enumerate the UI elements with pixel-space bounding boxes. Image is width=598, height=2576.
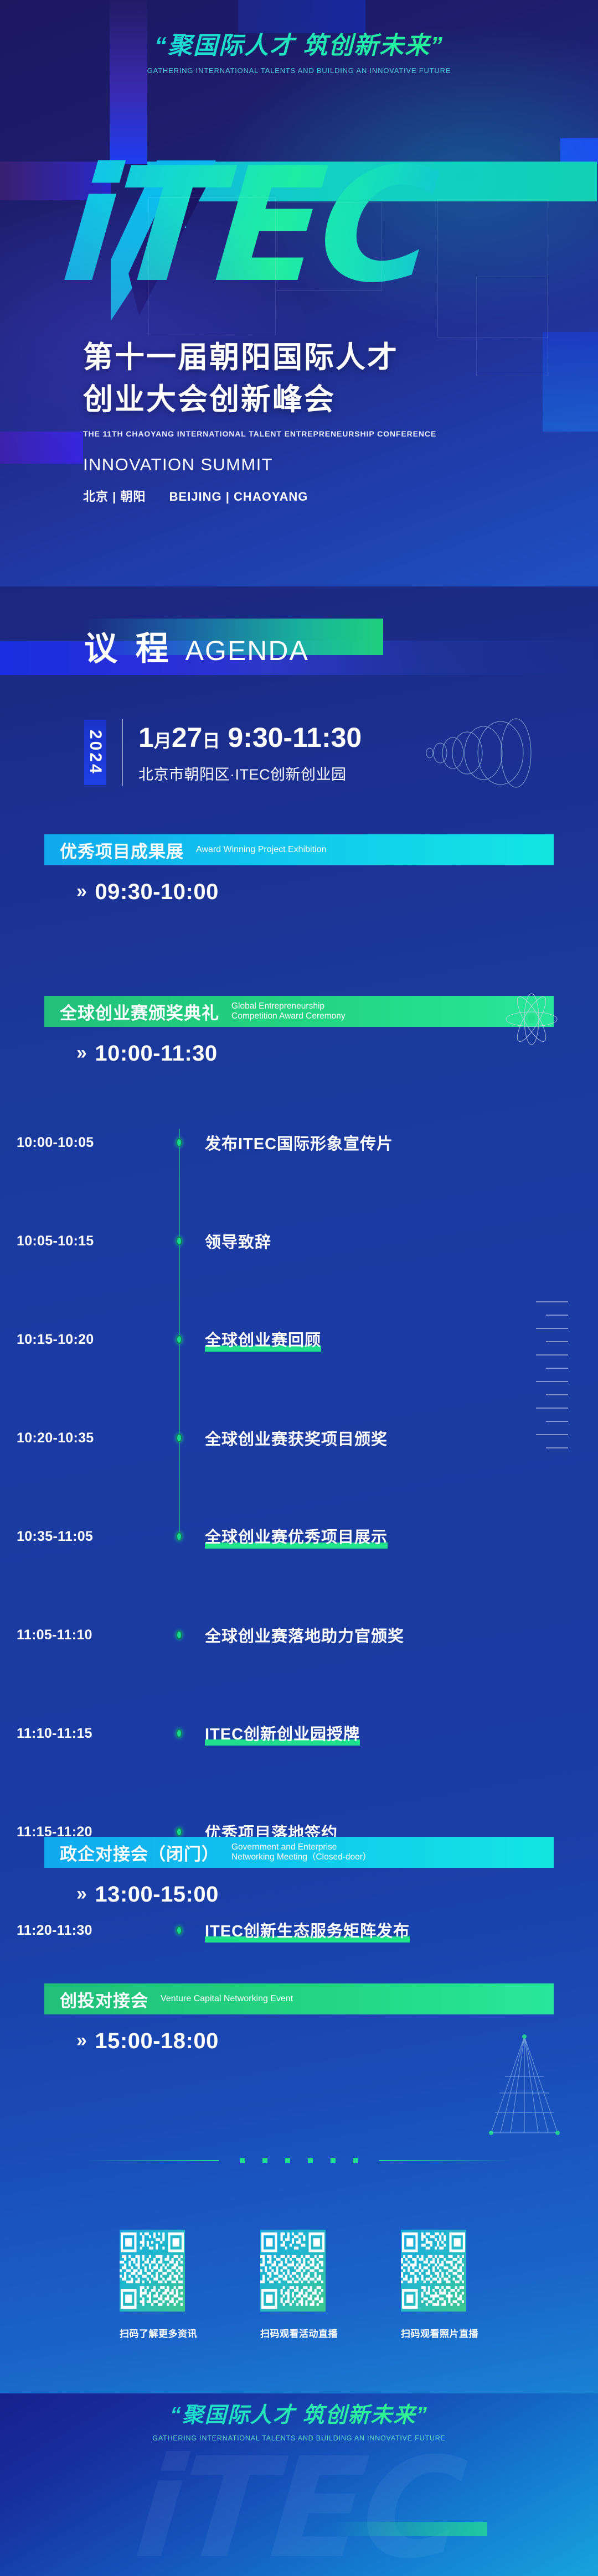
schedule-label: 全球创业赛回顾 (205, 1327, 321, 1352)
schedule-label: ITEC创新创业园授牌 (205, 1721, 360, 1746)
section-bar-3: 政企对接会（闭门） Government and Enterprise Netw… (44, 1837, 554, 1868)
page-title-english: THE 11TH CHAOYANG INTERNATIONAL TALENT E… (83, 429, 436, 438)
section-award-exhibition: 优秀项目成果展 Award Winning Project Exhibition… (0, 834, 598, 905)
agenda-heading-english: AGENDA (185, 635, 309, 667)
title-block: 第十一届朝阳国际人才 创业大会创新峰会 THE 11TH CHAOYANG IN… (83, 336, 436, 505)
qr-item-live[interactable]: 扫码观看活动直播 (260, 2230, 338, 2340)
section-1-time-row: »09:30-10:00 (76, 880, 598, 905)
deco-diagonal-cyan (111, 160, 216, 321)
wireframe-1 (148, 197, 276, 335)
deco-block-6 (560, 138, 598, 164)
section-1-title-en: Award Winning Project Exhibition (196, 845, 326, 855)
qr-caption: 扫码观看照片直播 (401, 2326, 478, 2340)
schedule-time: 11:20-11:30 (17, 1923, 144, 1939)
section-venture-capital: 创投对接会 Venture Capital Networking Event »… (0, 1983, 598, 2054)
deco-block-1 (110, 0, 147, 164)
location-line: 北京 | 朝阳 BEIJING | CHAOYANG (83, 487, 436, 505)
agenda-month-unit: 月 (154, 731, 172, 751)
schedule-time: 10:05-10:15 (17, 1233, 144, 1249)
section-gov-enterprise-meeting: 政企对接会（闭门） Government and Enterprise Netw… (0, 1837, 598, 1907)
schedule-time: 10:00-10:05 (17, 1135, 144, 1151)
wireframe-4 (476, 277, 548, 376)
deco-block-8 (543, 332, 598, 432)
section-bar-4: 创投对接会 Venture Capital Networking Event (44, 1983, 554, 2014)
agenda-date-divider (122, 719, 123, 786)
page-title-line1: 第十一届朝阳国际人才 (83, 336, 436, 378)
section-1-time: 09:30-10:00 (95, 880, 218, 904)
qr-code-section: 扫码了解更多资讯 扫码观看活动直播 (0, 2230, 598, 2340)
chevron-right-icon: » (76, 2030, 87, 2051)
timeline-dot-icon (176, 1335, 182, 1344)
deco-block-3 (0, 162, 111, 200)
qr-item-info[interactable]: 扫码了解更多资讯 (120, 2230, 197, 2340)
section-3-en-line2: Networking Meeting（Closed-door） (231, 1852, 371, 1862)
section-4-title-cn: 创投对接会 (60, 1987, 148, 2012)
schedule-time: 10:15-10:20 (17, 1332, 144, 1348)
divider-dots (240, 2158, 358, 2163)
section-2-title-cn: 全球创业赛颁奖典礼 (60, 999, 219, 1024)
section-3-title-en: Government and Enterprise Networking Mee… (231, 1842, 371, 1863)
section-2-en-line2: Competition Award Ceremony (231, 1011, 346, 1021)
itec-logo-wordmark: iTEC (57, 143, 559, 309)
schedule-label: 发布ITEC国际形象宣传片 (205, 1131, 393, 1154)
section-2-en-line1: Global Entrepreneurship (231, 1001, 346, 1011)
footer: iTEC “聚国际人才 筑创新未来” GATHERING INTERNATION… (0, 2393, 598, 2576)
deco-block-2 (147, 162, 186, 228)
agenda-heading-chinese: 议 程 (84, 622, 173, 670)
top-tagline: “聚国际人才 筑创新未来” GATHERING INTERNATIONAL TA… (0, 25, 598, 75)
agenda-month: 1 (138, 722, 154, 753)
schedule-row[interactable]: 11:20-11:30 ITEC创新生态服务矩阵发布 (0, 1907, 598, 1954)
deco-block-7 (0, 432, 83, 464)
schedule-time: 11:10-11:15 (17, 1726, 144, 1742)
agenda-venue: 北京市朝阳区·ITEC创新创业园 (138, 762, 362, 784)
schedule-label: 全球创业赛落地助力官颁奖 (205, 1623, 404, 1647)
schedule-time: 11:05-11:10 (17, 1627, 144, 1643)
agenda-year-text: 2024 (86, 730, 105, 776)
timeline-dot-icon (176, 1138, 182, 1147)
footer-ghost-logo: iTEC (0, 2428, 598, 2576)
timeline-dot-icon (176, 1434, 182, 1442)
footer-tagline-chinese: “聚国际人才 筑创新未来” (0, 2398, 598, 2429)
qr-item-photo[interactable]: 扫码观看照片直播 (401, 2230, 478, 2340)
agenda-date-row: 2024 1月27日 9:30-11:30 北京市朝阳区·ITEC创新创业园 (84, 719, 362, 786)
deco-diagonal-navy (128, 166, 217, 315)
schedule-list: 10:00-10:05 发布ITEC国际形象宣传片 10:05-10:15 领导… (0, 1119, 598, 1561)
footer-tagline-english: GATHERING INTERNATIONAL TALENTS AND BUIL… (0, 2434, 598, 2442)
schedule-row[interactable]: 11:05-11:10 全球创业赛落地助力官颁奖 (0, 1611, 598, 1659)
schedule-row[interactable]: 10:00-10:05 发布ITEC国际形象宣传片 (0, 1119, 598, 1166)
timeline-dot-icon (176, 1827, 182, 1836)
wireframe-2 (277, 202, 382, 291)
section-3-title-cn: 政企对接会（闭门） (60, 1840, 219, 1865)
pyramid-decoration-icon (483, 2032, 566, 2143)
section-global-award-ceremony: 全球创业赛颁奖典礼 Global Entrepreneurship Compet… (0, 996, 598, 1066)
schedule-row[interactable]: 10:20-10:35 全球创业赛获奖项目颁奖 (0, 1414, 598, 1462)
schedule-label: 全球创业赛优秀项目展示 (205, 1524, 388, 1549)
agenda-datetime: 1月27日 9:30-11:30 (138, 721, 362, 754)
chevron-right-icon: » (76, 881, 87, 902)
qr-code-icon[interactable] (120, 2230, 185, 2312)
section-3-time-row: »13:00-15:00 (76, 1882, 598, 1907)
section-2-title-en: Global Entrepreneurship Competition Awar… (231, 1001, 346, 1022)
timeline-dot-icon (176, 1729, 182, 1738)
section-4-title-en: Venture Capital Networking Event (161, 1994, 293, 2004)
section-bar-2: 全球创业赛颁奖典礼 Global Entrepreneurship Compet… (44, 996, 554, 1027)
agenda-time-range: 9:30-11:30 (228, 722, 362, 753)
section-3-time: 13:00-15:00 (95, 1882, 218, 1907)
schedule-label: 领导致辞 (205, 1229, 271, 1253)
agenda-day-unit: 日 (202, 731, 220, 751)
tagline-english: GATHERING INTERNATIONAL TALENTS AND BUIL… (0, 66, 598, 75)
schedule-row[interactable]: 11:10-11:15 ITEC创新创业园授牌 (0, 1710, 598, 1757)
schedule-label: ITEC创新生态服务矩阵发布 (205, 1918, 410, 1943)
schedule-row[interactable]: 10:15-10:20 全球创业赛回顾 (0, 1316, 598, 1363)
section-2-time: 10:00-11:30 (95, 1041, 217, 1066)
section-1-title-cn: 优秀项目成果展 (60, 838, 184, 863)
schedule-time: 10:20-10:35 (17, 1430, 144, 1446)
location-chinese: 北京 | 朝阳 (83, 490, 146, 503)
section-4-time: 15:00-18:00 (95, 2029, 218, 2053)
timeline-dot-icon (176, 1532, 182, 1541)
qr-caption: 扫码观看活动直播 (260, 2326, 338, 2340)
timeline-dot-icon (176, 1630, 182, 1639)
location-english: BEIJING | CHAOYANG (169, 490, 308, 503)
schedule-label: 全球创业赛获奖项目颁奖 (205, 1426, 388, 1450)
page-title-line2: 创业大会创新峰会 (83, 378, 436, 420)
schedule-time: 10:35-11:05 (17, 1529, 144, 1545)
schedule-row[interactable]: 10:35-11:05 全球创业赛优秀项目展示 (0, 1513, 598, 1560)
agenda-day: 27 (172, 722, 203, 753)
agenda-year-badge: 2024 (84, 720, 106, 785)
divider-line-left (86, 2160, 219, 2161)
rings-decoration-icon (410, 717, 532, 789)
qr-caption: 扫码了解更多资讯 (120, 2326, 197, 2340)
chevron-right-icon: » (76, 1883, 87, 1904)
footer-tagline: “聚国际人才 筑创新未来” GATHERING INTERNATIONAL TA… (0, 2398, 598, 2442)
footer-accent-bar (332, 2522, 487, 2536)
section-3-en-line1: Government and Enterprise (231, 1842, 371, 1852)
timeline-dot-icon (176, 1926, 182, 1935)
ruler-decoration-icon (536, 1301, 568, 1461)
qr-code-icon[interactable] (260, 2230, 326, 2312)
atom-decoration-icon (498, 986, 565, 1052)
timeline-dot-icon (176, 1237, 182, 1245)
section-divider (0, 2152, 598, 2169)
schedule-row[interactable]: 10:05-10:15 领导致辞 (0, 1217, 598, 1265)
section-bar-1: 优秀项目成果展 Award Winning Project Exhibition (44, 834, 554, 865)
chevron-right-icon: » (76, 1042, 87, 1063)
divider-line-right (379, 2160, 512, 2161)
agenda-heading: 议 程 AGENDA (84, 622, 309, 670)
wireframe-3 (437, 199, 548, 337)
deco-block-4 (154, 162, 597, 201)
tagline-chinese: “聚国际人才 筑创新未来” (0, 25, 598, 61)
qr-code-icon[interactable] (401, 2230, 466, 2312)
innovation-summit-label: INNOVATION SUMMIT (83, 455, 436, 475)
